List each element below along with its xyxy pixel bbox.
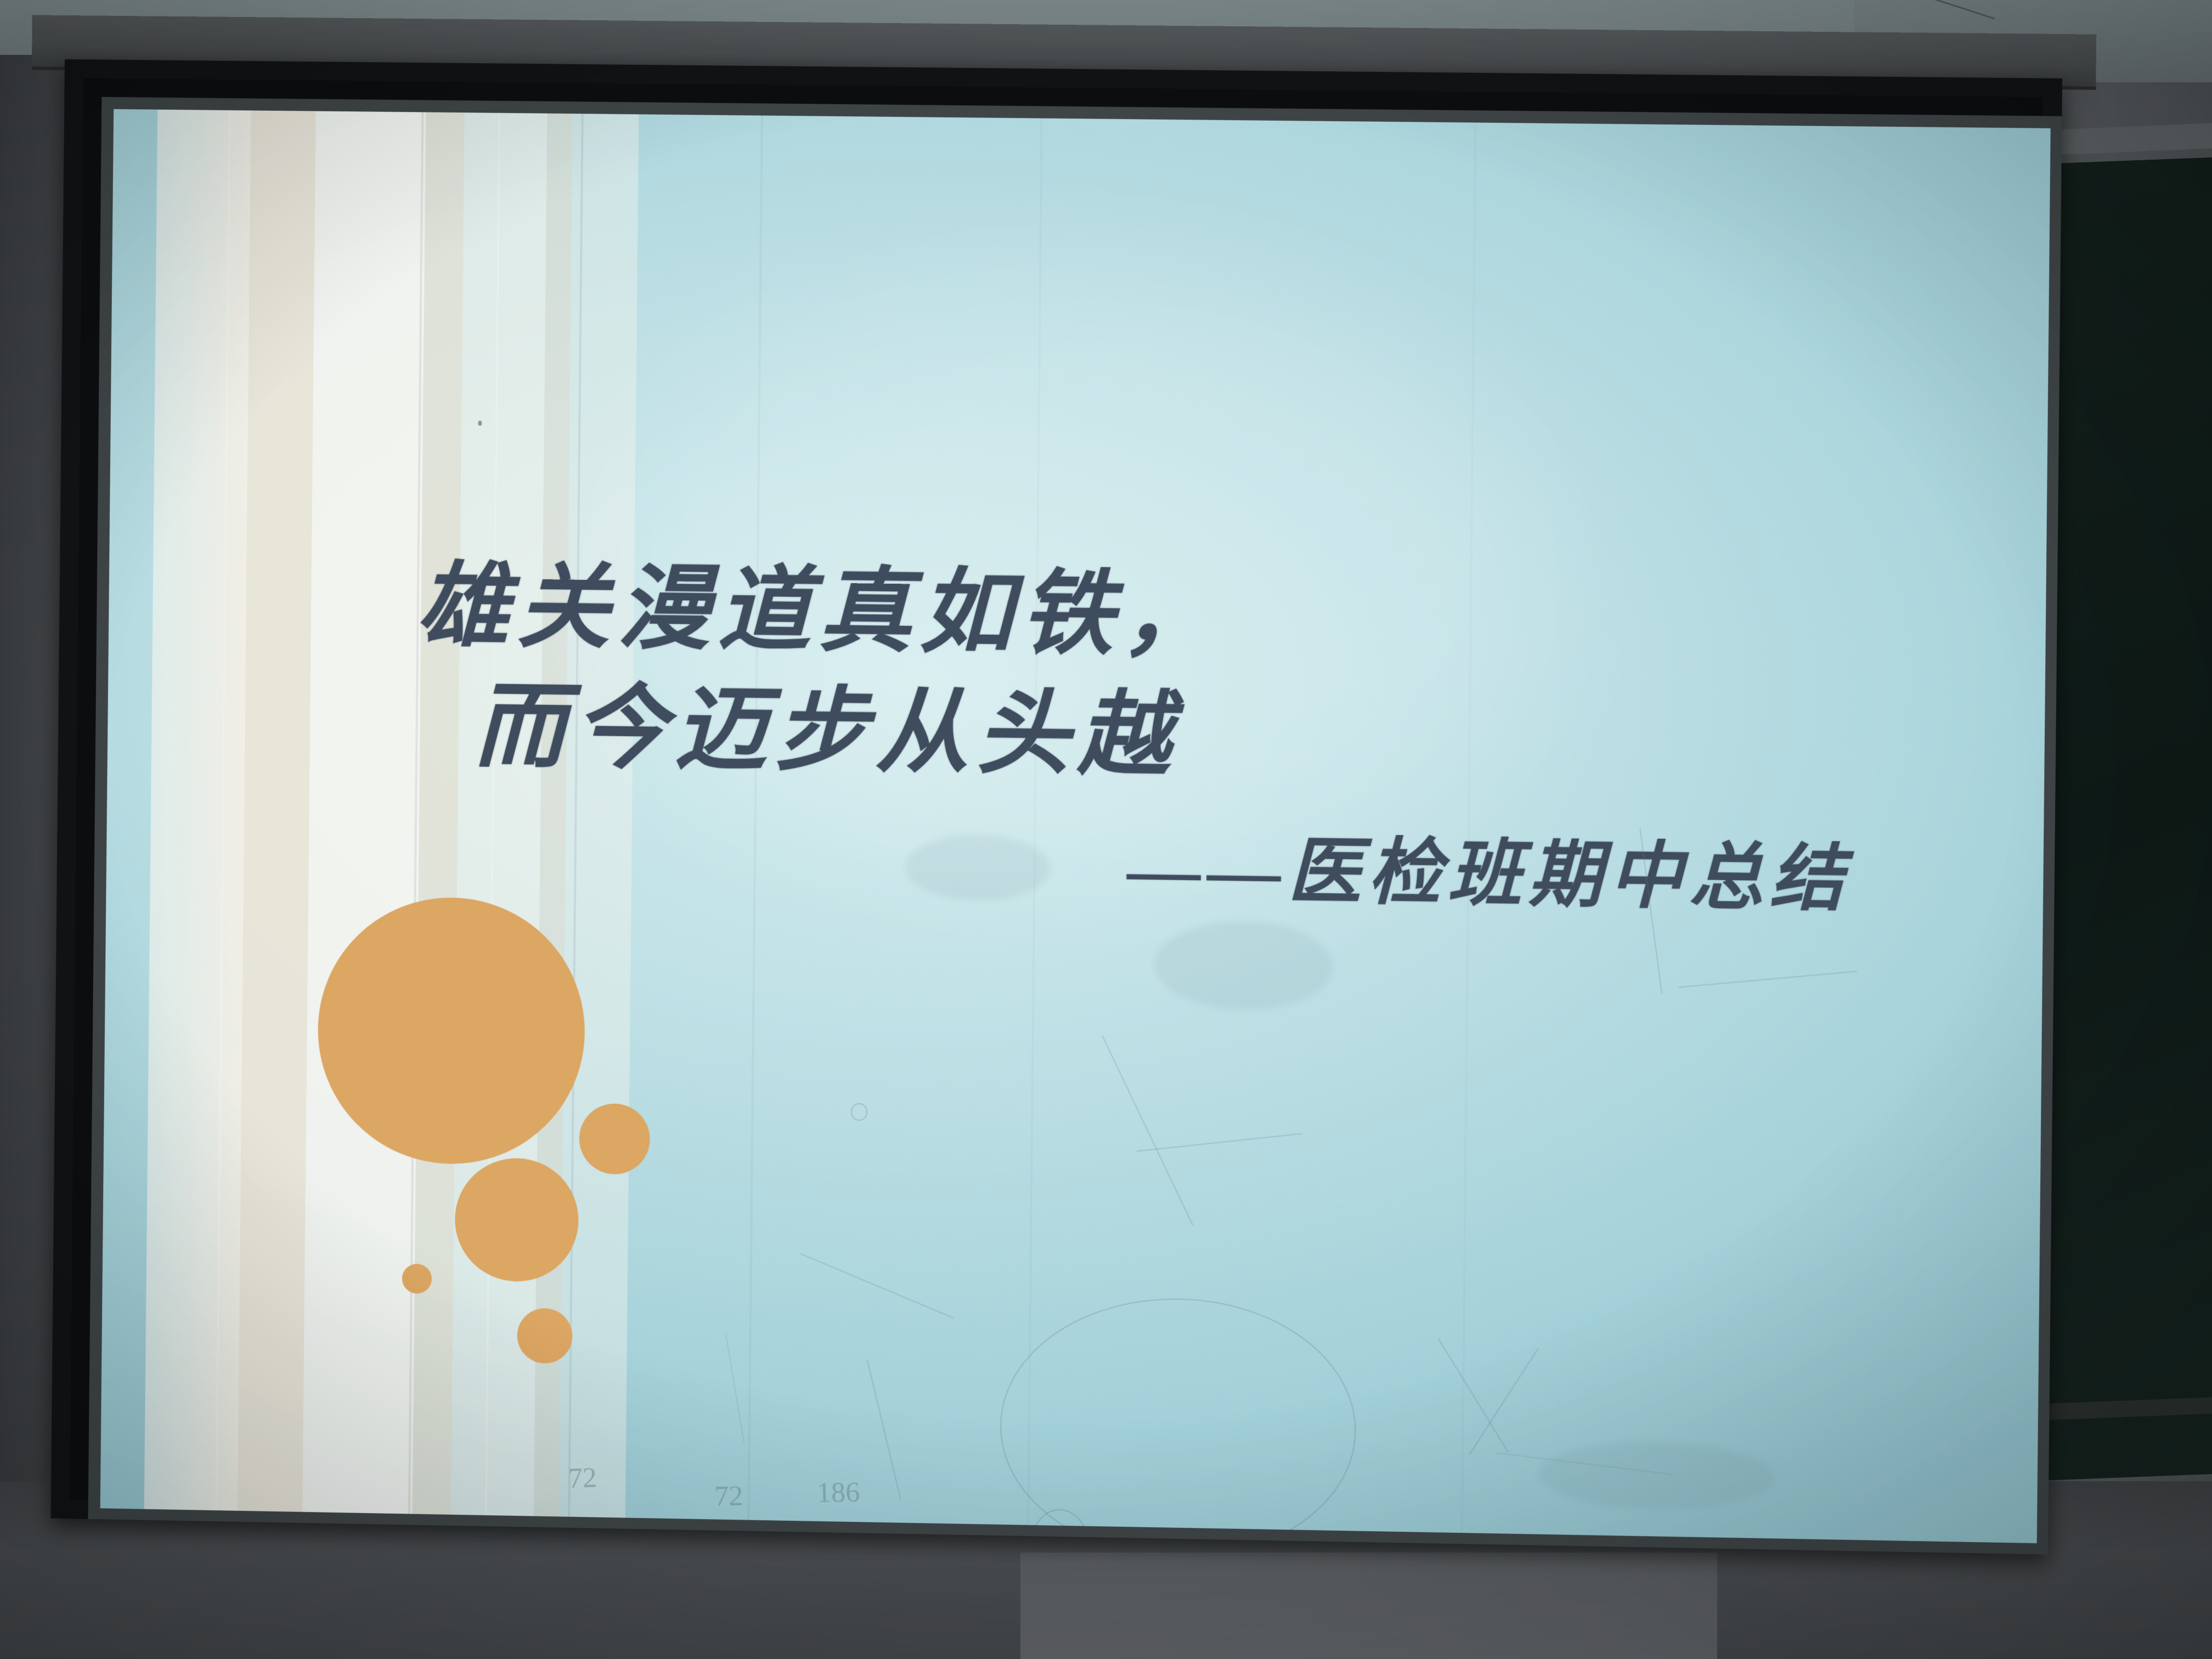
slide-stripe-1 bbox=[144, 110, 251, 1511]
wall-bottom-panel bbox=[1020, 1553, 1717, 1659]
projector-screen-assembly: 雄关漫道真如铁， 而今迈步从头越 ——医检班期中总结 72 72 186 bbox=[50, 59, 2062, 1555]
doodle-circle-dot bbox=[851, 1103, 868, 1121]
slide-stripe-3 bbox=[302, 111, 426, 1514]
slide-text-block: 雄关漫道真如铁， 而今迈步从头越 ——医检班期中总结 bbox=[414, 546, 1973, 927]
pencil-mark-72-a: 72 bbox=[568, 1462, 598, 1495]
screen-frame: 雄关漫道真如铁， 而今迈步从头越 ——医检班期中总结 72 72 186 bbox=[50, 59, 2062, 1555]
projected-slide[interactable]: 雄关漫道真如铁， 而今迈步从头越 ——医检班期中总结 72 72 186 bbox=[100, 109, 2051, 1543]
photograph: 雄关漫道真如铁， 而今迈步从头越 ——医检班期中总结 72 72 186 bbox=[0, 0, 2212, 1659]
circle-small-bottom bbox=[517, 1308, 573, 1364]
pencil-mark-72-b: 72 bbox=[714, 1480, 744, 1513]
poem-line-2: 而今迈步从头越 bbox=[415, 667, 1972, 808]
pencil-mark-186: 186 bbox=[816, 1476, 860, 1510]
circle-tiny bbox=[402, 1263, 432, 1294]
circle-upper-right bbox=[579, 1103, 650, 1175]
poem-line-1: 雄关漫道真如铁， bbox=[416, 546, 1973, 687]
screen-speck-1 bbox=[478, 421, 482, 426]
circle-medium bbox=[454, 1157, 579, 1282]
